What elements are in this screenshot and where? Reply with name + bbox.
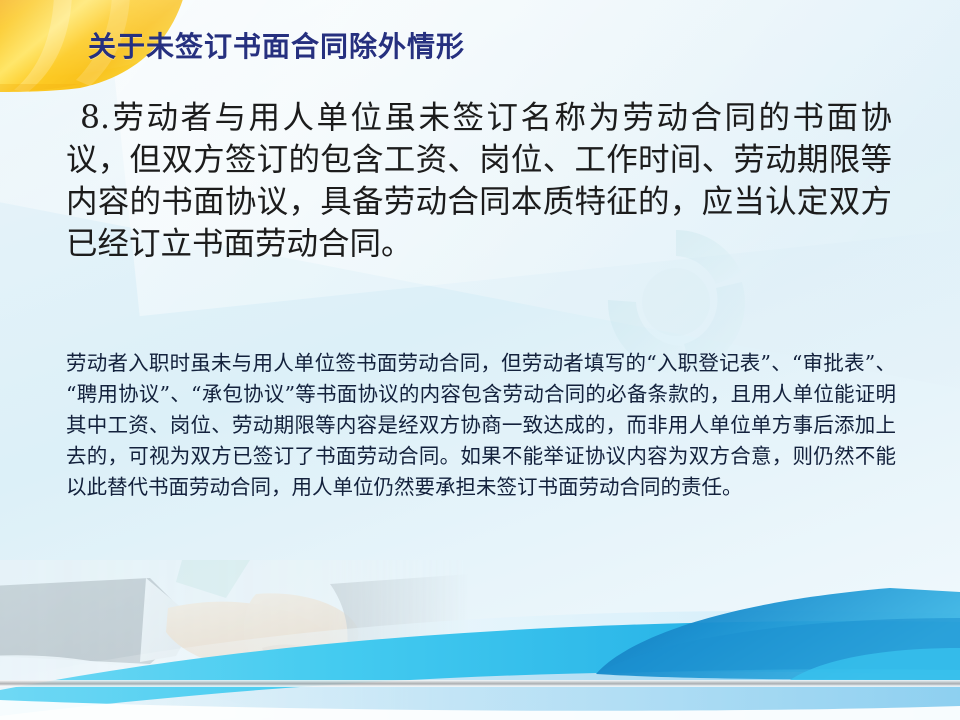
silver-divider-line <box>0 680 960 687</box>
blue-swoosh-waves <box>0 530 960 720</box>
page-title: 关于未签订书面合同除外情形 <box>88 25 465 65</box>
handshake-photo <box>0 560 470 720</box>
presentation-slide: 关于未签订书面合同除外情形 8.劳动者与用人单位虽未签订名称为劳动合同的书面协议… <box>0 0 960 720</box>
explanatory-note-paragraph: 劳动者入职时虽未与用人单位签书面劳动合同，但劳动者填写的“入职登记表”、“审批表… <box>66 348 896 503</box>
main-body-paragraph: 8.劳动者与用人单位虽未签订名称为劳动合同的书面协议，但双方签订的包含工资、岗位… <box>66 97 892 265</box>
